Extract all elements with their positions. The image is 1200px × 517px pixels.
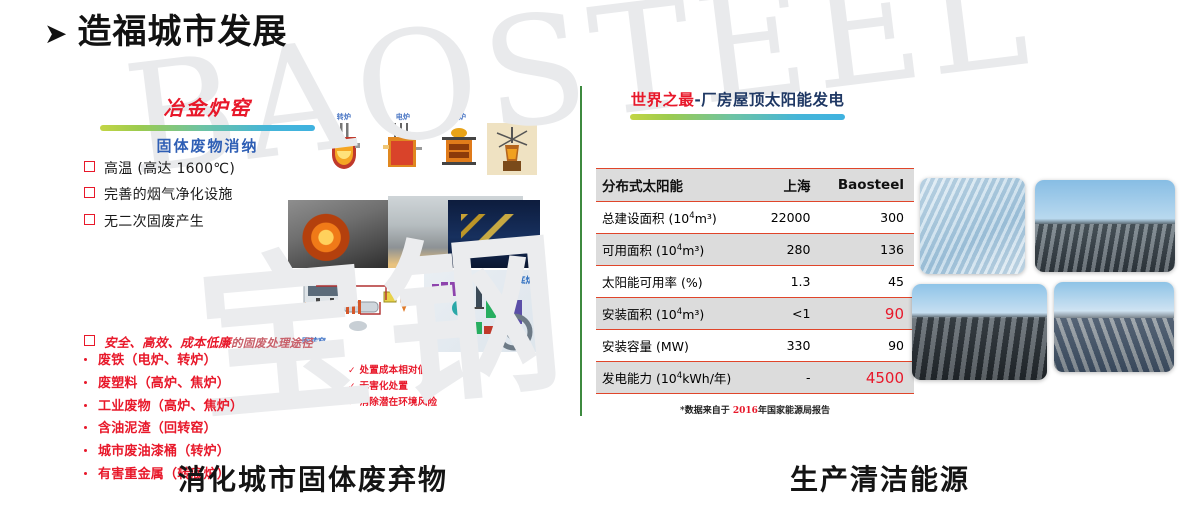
table-row: 可用面积 (104m³) 280 136 — [596, 234, 914, 266]
header-shanghai: 上海 — [757, 169, 821, 202]
caption-left: 消化城市固体废弃物 — [178, 458, 448, 498]
cell-shanghai: - — [757, 362, 821, 394]
waste-route-rest: 的固废处理途径 — [231, 336, 313, 350]
footnote-year: 2016 — [733, 406, 758, 416]
photo-rooftop-solar-array — [1035, 180, 1175, 272]
list-item-label: 高温 (高达 1600℃) — [104, 162, 235, 177]
cell-shanghai: 1.3 — [757, 266, 821, 298]
list-item-label: 完善的烟气净化设施 — [104, 188, 233, 203]
cell-shanghai: 280 — [757, 234, 821, 266]
cell-baosteel: 90 — [820, 298, 914, 330]
list-item-label: 无二次固废产生 — [104, 215, 204, 230]
waste-route-heading: 安全、高效、成本低廉的固废处理途径 — [84, 332, 384, 351]
square-bullet-icon — [84, 214, 95, 225]
row-label: 可用面积 (104m³) — [596, 234, 757, 266]
row-label-unit: m³) — [682, 243, 704, 258]
row-label: 发电能力 (104kWh/年) — [596, 362, 757, 394]
row-label-text: 可用面积 (10 — [602, 243, 677, 258]
dot-bullet-icon — [84, 449, 87, 452]
table-header-row: 分布式太阳能 上海 Baosteel — [596, 169, 914, 202]
page-title: ➤ 造福城市发展 — [44, 14, 287, 51]
list-item-label: 废铁（电炉、转炉） — [98, 354, 217, 368]
dot-bullet-icon — [84, 381, 87, 384]
arrow-bullet-icon: ➤ — [44, 20, 67, 48]
panel-divider — [580, 86, 582, 416]
caption-right: 生产清洁能源 — [790, 458, 970, 498]
solar-comparison-table: 分布式太阳能 上海 Baosteel 总建设面积 (104m³) 22000 3… — [596, 168, 914, 394]
list-item-label: 工业废物（高炉、焦炉） — [98, 400, 243, 414]
list-item: 工业废物（高炉、焦炉） — [84, 400, 344, 414]
cell-baosteel: 45 — [820, 266, 914, 298]
left-heading-red: 冶金炉窑 — [100, 92, 315, 121]
list-item: 废塑料（高炉、焦炉） — [84, 377, 344, 391]
right-heading-red: 世界之最 — [631, 91, 695, 109]
row-label-unit: m³) — [695, 211, 717, 226]
list-item-label: 废塑料（高炉、焦炉） — [98, 377, 230, 391]
row-label-text: 发电能力 (10 — [602, 371, 677, 386]
list-item: 高温 (高达 1600℃) — [84, 162, 334, 177]
row-label-text: 安装容量 (MW) — [602, 339, 689, 354]
cell-baosteel: 4500 — [820, 362, 914, 394]
cell-shanghai: <1 — [757, 298, 821, 330]
footnote-prefix: *数据来自于 — [680, 406, 733, 416]
row-label: 安装容量 (MW) — [596, 330, 757, 362]
header-baosteel: Baosteel — [820, 169, 914, 202]
table-row: 太阳能可用率 (%) 1.3 45 — [596, 266, 914, 298]
list-item: 废铁（电炉、转炉） — [84, 354, 344, 368]
page-title-text: 造福城市发展 — [77, 14, 287, 51]
table-row: 安装容量 (MW) 330 90 — [596, 330, 914, 362]
row-label-text: 太阳能可用率 (%) — [602, 275, 703, 290]
row-label-text: 总建设面积 (10 — [602, 211, 689, 226]
row-label: 安装面积 (104m³) — [596, 298, 757, 330]
square-bullet-icon — [84, 335, 95, 346]
left-heading-blue: 固体废物消纳 — [100, 135, 315, 156]
square-bullet-icon — [84, 187, 95, 198]
cell-baosteel: 90 — [820, 330, 914, 362]
dot-bullet-icon — [84, 404, 87, 407]
right-gradient-divider — [630, 114, 845, 120]
cell-shanghai: 330 — [757, 330, 821, 362]
dot-bullet-icon — [84, 426, 87, 429]
photo-solar-roof-wide — [912, 284, 1047, 380]
row-label: 太阳能可用率 (%) — [596, 266, 757, 298]
right-panel: 世界之最-厂房屋顶太阳能发电 分布式太阳能 上海 Baosteel 总建设面积 … — [596, 88, 936, 416]
square-bullet-icon — [84, 161, 95, 172]
table-row: 安装面积 (104m³) <1 90 — [596, 298, 914, 330]
row-label-text: 安装面积 (10 — [602, 307, 677, 322]
table-row: 发电能力 (104kWh/年) - 4500 — [596, 362, 914, 394]
list-item-label: 含油泥渣（回转窑） — [98, 422, 217, 436]
dot-bullet-icon — [84, 472, 87, 475]
row-label-unit: kWh/年) — [682, 371, 731, 386]
table-footnote: *数据来自于 2016年国家能源局报告 — [596, 403, 914, 416]
feature-bullet-list: 高温 (高达 1600℃) 完善的烟气净化设施 无二次固废产生 — [84, 162, 334, 241]
waste-route-strong: 安全、高效、成本低廉 — [104, 335, 231, 350]
right-heading-blue: -厂房屋顶太阳能发电 — [694, 91, 844, 109]
right-heading: 世界之最-厂房屋顶太阳能发电 — [630, 88, 845, 110]
slide-root: BAOSTEEL 宝钢 ➤ 造福城市发展 冶金炉窑 固体废物消纳 高温 (高达 … — [0, 0, 1200, 517]
photo-solar-panel-closeup — [920, 178, 1025, 274]
row-label: 总建设面积 (104m³) — [596, 202, 757, 234]
dot-bullet-icon — [84, 358, 87, 361]
footnote-suffix: 年国家能源局报告 — [758, 406, 830, 416]
right-panel-header: 世界之最-厂房屋顶太阳能发电 — [630, 88, 845, 120]
row-label-unit: m³) — [682, 307, 704, 322]
left-gradient-divider — [100, 125, 315, 131]
list-item: 无二次固废产生 — [84, 215, 334, 230]
cell-baosteel: 300 — [820, 202, 914, 234]
header-metric: 分布式太阳能 — [596, 169, 757, 202]
list-item: 含油泥渣（回转窑） — [84, 422, 344, 436]
photo-solar-plant — [1054, 282, 1174, 372]
cell-shanghai: 22000 — [757, 202, 821, 234]
left-panel-header: 冶金炉窑 固体废物消纳 — [100, 92, 315, 156]
cell-baosteel: 136 — [820, 234, 914, 266]
table-row: 总建设面积 (104m³) 22000 300 — [596, 202, 914, 234]
left-panel: 冶金炉窑 固体废物消纳 高温 (高达 1600℃) 完善的烟气净化设施 无二次固… — [0, 86, 560, 416]
list-item: 完善的烟气净化设施 — [84, 188, 334, 203]
